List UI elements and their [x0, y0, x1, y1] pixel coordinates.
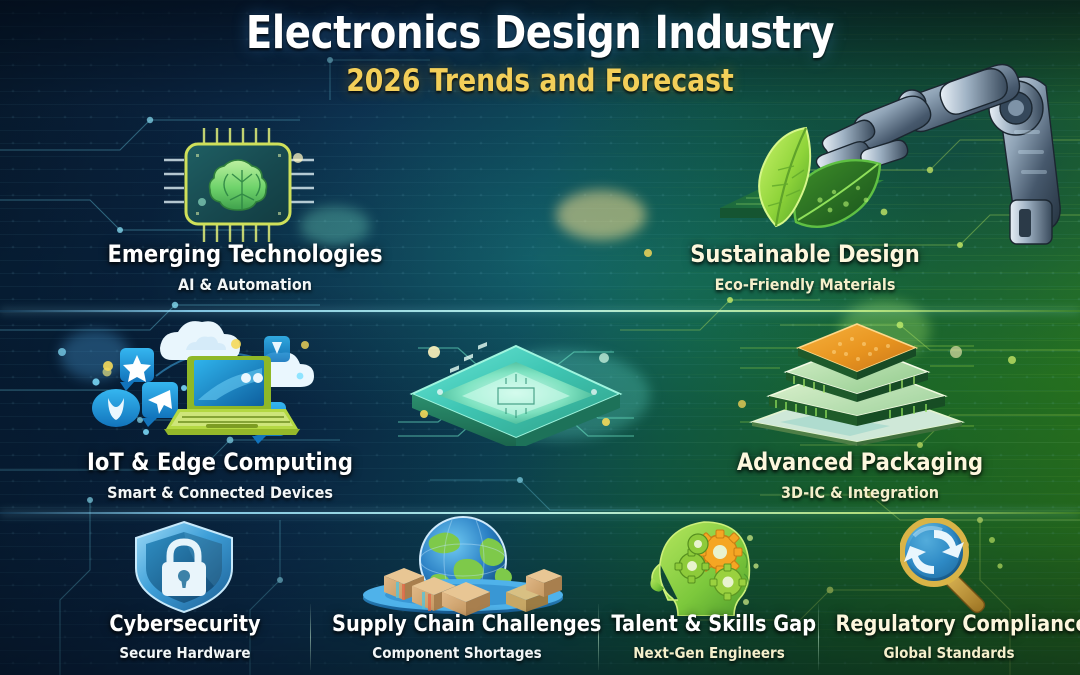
section-emerging-technologies[interactable]: Emerging Technologies AI & Automation	[40, 240, 450, 294]
head-gears-icon	[644, 518, 764, 616]
connected-devices-icon	[86, 320, 320, 444]
section-talent-skills-gap[interactable]: Talent & Skills Gap Next-Gen Engineers	[598, 612, 820, 662]
section-title: Emerging Technologies	[65, 240, 426, 268]
section-sustainable-design[interactable]: Sustainable Design Eco-Friendly Material…	[600, 240, 1010, 294]
section-title: Advanced Packaging	[693, 448, 1027, 476]
row-divider-1	[0, 310, 1080, 312]
magnifier-refresh-icon	[900, 518, 1010, 616]
shield-lock-icon	[126, 518, 242, 614]
green-leaf-icon	[716, 126, 888, 244]
page-subtitle: 2026 Trends and Forecast	[76, 63, 1005, 99]
section-supply-chain-challenges[interactable]: Supply Chain Challenges Component Shorta…	[315, 612, 599, 662]
processor-die-icon	[398, 318, 634, 446]
section-title: Talent & Skills Gap	[611, 612, 806, 637]
section-subtitle: Global Standards	[833, 644, 1065, 662]
ai-chip-icon	[162, 126, 322, 244]
section-subtitle: Next-Gen Engineers	[609, 644, 809, 662]
section-subtitle: Secure Hardware	[73, 644, 298, 662]
section-title: Supply Chain Challenges	[332, 612, 582, 637]
row-divider-2	[0, 512, 1080, 514]
section-regulatory-compliance[interactable]: Regulatory Compliance Global Standards	[820, 612, 1078, 662]
globe-boxes-icon	[356, 516, 570, 616]
section-subtitle: Eco-Friendly Materials	[621, 275, 990, 294]
section-subtitle: Smart & Connected Devices	[49, 483, 391, 502]
section-iot-edge-computing[interactable]: IoT & Edge Computing Smart & Connected D…	[30, 448, 410, 502]
section-title: Cybersecurity	[75, 612, 295, 637]
section-subtitle: 3D-IC & Integration	[689, 483, 1031, 502]
section-title: Sustainable Design	[625, 240, 986, 268]
infographic-poster: Electronics Design Industry 2026 Trends …	[0, 0, 1080, 675]
bottom-row-divider-1	[310, 604, 311, 670]
chip-stack-icon	[740, 318, 974, 446]
section-title: Regulatory Compliance	[835, 612, 1062, 637]
section-cybersecurity[interactable]: Cybersecurity Secure Hardware	[60, 612, 310, 662]
page-title: Electronics Design Industry	[76, 6, 1005, 59]
poster-header: Electronics Design Industry 2026 Trends …	[0, 6, 1080, 99]
section-advanced-packaging[interactable]: Advanced Packaging 3D-IC & Integration	[670, 448, 1050, 502]
section-title: IoT & Edge Computing	[53, 448, 387, 476]
section-subtitle: Component Shortages	[329, 644, 585, 662]
section-subtitle: AI & Automation	[61, 275, 430, 294]
